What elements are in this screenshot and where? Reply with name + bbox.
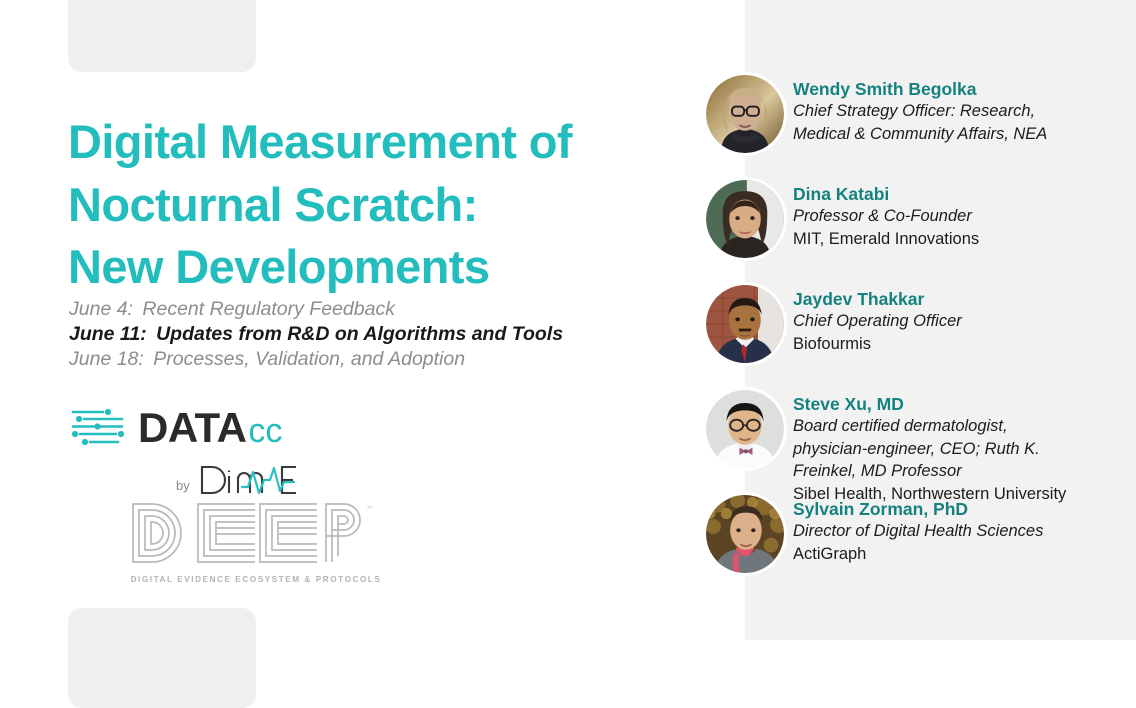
session-topic: Recent Regulatory Feedback — [142, 298, 395, 320]
avatar-wrap — [697, 387, 793, 471]
headshot-jaydev-thakkar-icon — [706, 285, 784, 363]
speaker-org-line: Biofourmis — [793, 333, 1123, 356]
title-line-3: New Developments — [68, 236, 708, 299]
speaker-card-dina-katabi: Dina Katabi Professor & Co-Founder MIT, … — [697, 177, 1136, 261]
session-item-june-4: June 4: Recent Regulatory Feedback — [69, 297, 689, 322]
title-line-1: Digital Measurement of — [68, 111, 708, 174]
avatar-wrap — [697, 72, 793, 156]
avatar — [703, 492, 787, 576]
deep-logo: ™ DIGITAL EVIDENCE ECOSYSTEM & PROTOCOLS — [130, 500, 385, 584]
dime-wordmark-icon — [198, 463, 302, 497]
datacc-logo: DATA cc — [70, 402, 390, 454]
speaker-text: Jaydev Thakkar Chief Operating Officer B… — [793, 282, 1123, 355]
speaker-title-line: Medical & Community Affairs, NEA — [793, 123, 1123, 146]
speaker-text: Dina Katabi Professor & Co-Founder MIT, … — [793, 177, 1123, 250]
datacc-word-dark: DATA — [138, 407, 246, 449]
avatar-wrap — [697, 492, 793, 576]
avatar — [703, 72, 787, 156]
speaker-name: Steve Xu, MD — [793, 393, 1123, 415]
speaker-card-steve-xu: Steve Xu, MD Board certified dermatologi… — [697, 387, 1136, 505]
datacc-word-accent: cc — [248, 414, 282, 448]
datacc-circuit-icon — [70, 405, 126, 451]
headshot-sylvain-zorman-icon — [706, 495, 784, 573]
deep-trademark-symbol: ™ — [366, 505, 374, 514]
session-date: June 11: — [69, 323, 147, 345]
page-title: Digital Measurement of Nocturnal Scratch… — [68, 111, 708, 299]
left-content-column: Digital Measurement of Nocturnal Scratch… — [68, 0, 728, 640]
speaker-name: Dina Katabi — [793, 183, 1123, 205]
session-schedule-list: June 4: Recent Regulatory Feedback June … — [69, 297, 689, 372]
session-item-june-11: June 11: Updates from R&D on Algorithms … — [69, 322, 689, 347]
session-topic: Processes, Validation, and Adoption — [153, 348, 465, 370]
headshot-dina-katabi-icon — [706, 180, 784, 258]
avatar — [703, 177, 787, 261]
session-date: June 18: — [69, 348, 144, 370]
speaker-text: Sylvain Zorman, PhD Director of Digital … — [793, 492, 1123, 565]
deep-wordmark-icon: ™ — [130, 500, 376, 570]
avatar-wrap — [697, 177, 793, 261]
speaker-title-line: Chief Operating Officer — [793, 310, 1123, 333]
session-item-june-18: June 18: Processes, Validation, and Adop… — [69, 347, 689, 372]
speaker-title-line: Chief Strategy Officer: Research, — [793, 100, 1123, 123]
speaker-card-jaydev-thakkar: Jaydev Thakkar Chief Operating Officer B… — [697, 282, 1136, 366]
speaker-name: Wendy Smith Begolka — [793, 78, 1123, 100]
deep-tagline: DIGITAL EVIDENCE ECOSYSTEM & PROTOCOLS — [130, 575, 382, 584]
session-date: June 4: — [69, 298, 133, 320]
speakers-list: Wendy Smith Begolka Chief Strategy Offic… — [697, 0, 1136, 640]
speaker-card-sylvain-zorman: Sylvain Zorman, PhD Director of Digital … — [697, 492, 1136, 576]
speaker-title-line: Freinkel, MD Professor — [793, 460, 1123, 483]
speaker-text: Steve Xu, MD Board certified dermatologi… — [793, 387, 1123, 505]
speaker-title-line: Professor & Co-Founder — [793, 205, 1123, 228]
speaker-title-line: Director of Digital Health Sciences — [793, 520, 1123, 543]
speaker-card-wendy-smith-begolka: Wendy Smith Begolka Chief Strategy Offic… — [697, 72, 1136, 156]
speaker-title-line: Board certified dermatologist, — [793, 415, 1123, 438]
avatar — [703, 387, 787, 471]
speaker-name: Jaydev Thakkar — [793, 288, 1123, 310]
speaker-org-line: MIT, Emerald Innovations — [793, 228, 1123, 251]
avatar — [703, 282, 787, 366]
datacc-wordmark: DATA cc — [138, 407, 282, 449]
title-line-2: Nocturnal Scratch: — [68, 174, 708, 237]
session-topic: Updates from R&D on Algorithms and Tools — [156, 323, 563, 345]
headshot-wendy-smith-begolka-icon — [706, 75, 784, 153]
speaker-org-line: ActiGraph — [793, 543, 1123, 566]
speaker-text: Wendy Smith Begolka Chief Strategy Offic… — [793, 72, 1123, 145]
slide-canvas: Digital Measurement of Nocturnal Scratch… — [0, 0, 1136, 640]
speaker-title-line: physician-engineer, CEO; Ruth K. — [793, 438, 1123, 461]
dime-logo: by — [176, 462, 302, 498]
avatar-wrap — [697, 282, 793, 366]
dime-by-label: by — [176, 478, 190, 493]
headshot-steve-xu-icon — [706, 390, 784, 468]
speaker-name: Sylvain Zorman, PhD — [793, 498, 1123, 520]
